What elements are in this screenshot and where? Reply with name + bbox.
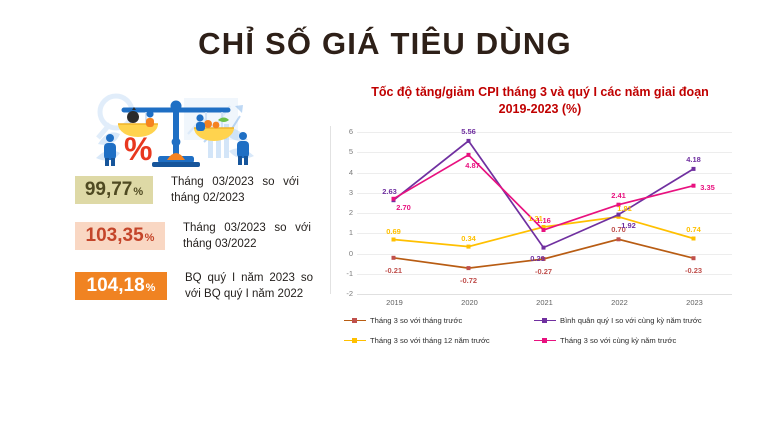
chart-point-marker [392,197,396,201]
chart-point-marker [542,228,546,232]
chart-data-label: 4.18 [686,155,701,164]
legend-item-vs-december[interactable]: Tháng 3 so với tháng 12 năm trước [344,336,490,345]
chart-data-label: 0.69 [386,227,401,236]
stat-description: BQ quý I năm 2023 so với BQ quý I năm 20… [185,270,313,302]
cpi-line-chart: Tốc độ tăng/giảm CPI tháng 3 và quý I cá… [330,74,745,334]
chart-data-label: 1.92 [621,221,636,230]
chart-point-marker [467,153,471,157]
chart-data-label: 5.56 [461,127,476,136]
stat-description: Tháng 03/2023 so với tháng 02/2023 [171,174,299,206]
legend-item-quarter-average[interactable]: Bình quân quý I so với cùng kỳ năm trước [534,316,702,325]
chart-data-label: 2.41 [611,191,626,200]
stat-description: Tháng 03/2023 so với tháng 03/2022 [183,220,311,252]
chart-data-label: -0.23 [685,266,702,275]
legend-swatch-icon [344,337,366,345]
stat-row-year-over-year: 103,35 % Tháng 03/2023 so với tháng 03/2… [75,222,325,262]
chart-data-label: 3.35 [700,183,715,192]
infographic-page: CHỈ SỐ GIÁ TIÊU DÙNG [0,0,770,433]
chart-point-marker [692,237,696,241]
chart-data-label: 0.74 [686,225,701,234]
chart-data-label: 4.87 [465,161,480,170]
chart-data-label: -0.21 [385,266,402,275]
chart-point-marker [467,266,471,270]
stat-unit: % [133,178,143,206]
chart-point-marker [692,256,696,260]
chart-point-marker [392,256,396,260]
stat-value: 103,35 [86,222,144,250]
stat-badge: 104,18 % [75,272,167,300]
chart-data-label: 0.34 [461,234,476,243]
legend-swatch-icon [344,317,366,325]
stat-unit: % [145,224,155,252]
chart-point-marker [617,237,621,241]
legend-label: Tháng 3 so với cùng kỳ năm trước [560,336,676,345]
chart-data-label: -0.72 [460,276,477,285]
chart-point-marker [467,245,471,249]
x-axis-tick-label: 2020 [450,298,490,307]
x-axis-tick-label: 2022 [600,298,640,307]
stat-row-month-over-month: 99,77 % Tháng 03/2023 so với tháng 02/20… [75,176,325,216]
chart-point-marker [692,167,696,171]
page-title: CHỈ SỐ GIÁ TIÊU DÙNG [0,26,770,62]
x-axis-line [357,294,732,295]
legend-swatch-icon [534,337,556,345]
legend-swatch-icon [534,317,556,325]
x-axis-tick-label: 2021 [525,298,565,307]
legend-item-month-over-month[interactable]: Tháng 3 so với tháng trước [344,316,462,325]
legend-label: Bình quân quý I so với cùng kỳ năm trước [560,316,702,325]
chart-data-label: 2.70 [396,203,411,212]
chart-point-marker [392,238,396,242]
x-axis-tick-label: 2019 [375,298,415,307]
stat-value: 99,77 [85,176,133,204]
stat-unit: % [146,274,156,302]
percent-symbol: % [124,131,152,167]
chart-title: Tốc độ tăng/giảm CPI tháng 3 và quý I cá… [360,84,720,118]
chart-data-label: 1.81 [617,204,632,213]
stat-value: 104,18 [87,272,145,300]
legend-label: Tháng 3 so với tháng 12 năm trước [370,336,490,345]
chart-point-marker [467,139,471,143]
x-axis-tick-label: 2023 [675,298,715,307]
legend-item-same-period[interactable]: Tháng 3 so với cùng kỳ năm trước [534,336,676,345]
stat-row-quarter-average: 104,18 % BQ quý I năm 2023 so với BQ quý… [75,272,325,312]
chart-data-label: 0.29 [530,254,545,263]
chart-data-label: -0.27 [535,267,552,276]
chart-legend: Tháng 3 so với tháng trước Tháng 3 so vớ… [338,312,738,354]
consumer-price-scale-illustration: % [88,84,266,176]
chart-data-label: 1.16 [536,216,551,225]
legend-label: Tháng 3 so với tháng trước [370,316,462,325]
stat-badge: 103,35 % [75,222,165,250]
chart-point-marker [692,184,696,188]
chart-data-label: 2.63 [382,187,397,196]
chart-point-marker [617,213,621,217]
chart-point-marker [542,246,546,250]
stat-badge: 99,77 % [75,176,153,204]
